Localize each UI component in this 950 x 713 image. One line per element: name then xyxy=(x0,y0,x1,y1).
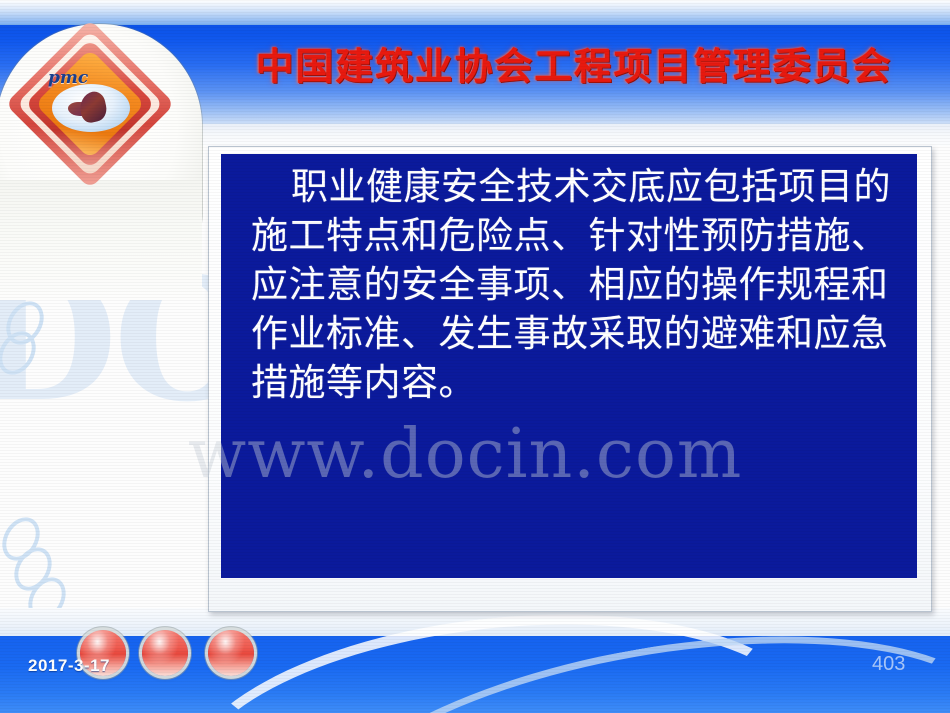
logo-emblem-oval xyxy=(52,84,130,132)
footer-bullet-dot xyxy=(142,630,188,676)
body-paragraph: 职业健康安全技术交底应包括项目的施工特点和危险点、针对性预防措施、应注意的安全事… xyxy=(251,162,897,407)
logo-wordmark: pmc xyxy=(48,70,104,87)
footer-bullet-dot xyxy=(208,630,254,676)
top-gradient-strip xyxy=(0,0,950,25)
logo-backdrop-skirt xyxy=(0,180,202,300)
logo-figure-icon xyxy=(77,90,109,125)
pmc-logo: pmc xyxy=(26,40,154,168)
header-title: 中国建筑业协会工程项目管理委员会 xyxy=(231,44,916,92)
slide-canvas: DOC 中国建筑业协会工程项目管理委员会 pmc 职业健康安全技术交底应包括项目… xyxy=(0,0,950,713)
footer-date: 2017-3-17 xyxy=(28,656,110,676)
footer-page-number: 403 xyxy=(872,653,905,676)
content-panel: 职业健康安全技术交底应包括项目的施工特点和危险点、针对性预防措施、应注意的安全事… xyxy=(221,154,917,578)
